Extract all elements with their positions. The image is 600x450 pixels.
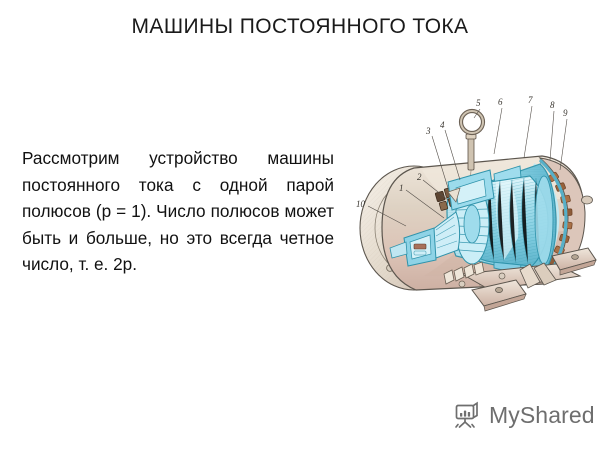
callout-3: 3	[425, 126, 431, 136]
dc-machine-svg: 10 1 2 3 4 5 6 7 8 9	[344, 78, 600, 320]
drain-plug	[459, 281, 465, 287]
callout-1: 1	[399, 183, 404, 193]
callout-4: 4	[440, 120, 445, 130]
dc-machine-cutaway-illustration: 10 1 2 3 4 5 6 7 8 9	[344, 78, 600, 320]
callout-5: 5	[476, 98, 481, 108]
flipchart-chart-icon	[452, 400, 482, 430]
callout-9: 9	[563, 108, 568, 118]
myshared-watermark: MyShared	[452, 400, 595, 430]
callout-10: 10	[356, 199, 366, 209]
callout-7: 7	[528, 95, 533, 105]
callout-2: 2	[417, 172, 422, 182]
callout-8: 8	[550, 100, 555, 110]
presentation-slide: МАШИНЫ ПОСТОЯННОГО ТОКА Рассмотрим устро…	[0, 0, 600, 450]
callout-6: 6	[498, 97, 503, 107]
lifting-eye-and-terminal-box	[448, 111, 494, 210]
page-title: МАШИНЫ ПОСТОЯННОГО ТОКА	[0, 14, 600, 40]
myshared-brand-text: MyShared	[489, 400, 595, 430]
slide-body-text: Рассмотрим устройство машины постоянного…	[22, 145, 334, 278]
base-bolt	[499, 273, 505, 279]
